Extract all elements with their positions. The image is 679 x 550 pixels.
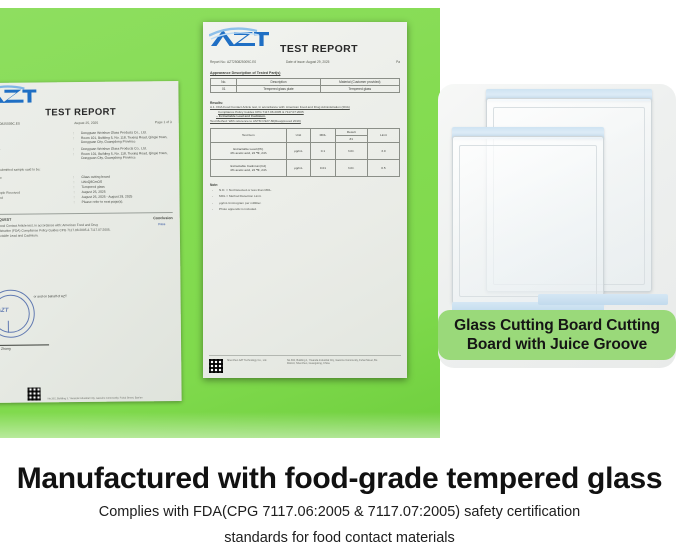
col-mdl: MDL bbox=[311, 128, 336, 142]
cell-material: Tempered glass bbox=[320, 86, 399, 93]
col-unit: Unit bbox=[286, 128, 311, 142]
document-footer-top: Shenzhen AZT Technology Co., Ltd. No.302… bbox=[209, 355, 401, 373]
cell-result: N.D. bbox=[335, 159, 367, 176]
table-row: 01 Tempered glass plate Tempered glass bbox=[211, 86, 400, 93]
field-value: Room 101, Building 5, No. 118, Tiexing R… bbox=[81, 135, 172, 144]
report-date-left: August 25, 2025 bbox=[52, 121, 121, 126]
sample-label: e bbox=[0, 200, 71, 205]
col-material: Material (Customer provided) bbox=[320, 79, 399, 86]
cell-test-condition: 4% acetic acid, 22 ℃, 24h bbox=[212, 151, 285, 155]
test-request-body-left: FDA Food Contact Article test, in accord… bbox=[0, 222, 173, 238]
sample-intro-left: n the submitted sample said to be: bbox=[0, 166, 172, 172]
section-parts-heading: Appearance Description of Tested Part(s) bbox=[210, 71, 400, 75]
test-request-header-left: T REQUEST Conclusion bbox=[0, 212, 173, 222]
conclusion-label: Conclusion bbox=[153, 216, 173, 220]
results-reference: A.1. FDA Food Contact Article test, in a… bbox=[210, 105, 400, 124]
report-meta-left: AZT250825009C.E0 August 25, 2025 Page 1 … bbox=[0, 120, 172, 126]
test-report-document-top[interactable]: TEST REPORT Report No.: AZT250825009C.E0… bbox=[203, 22, 407, 378]
cell-mdl: 0.01 bbox=[311, 159, 336, 176]
table-row: Extractable Cadmium(Cd) 4% acetic acid, … bbox=[211, 159, 400, 176]
caption-line-2: Board with Juice Groove bbox=[454, 335, 660, 354]
subtitle-line-1: Complies with FDA(CPG 7117.06:2005 & 711… bbox=[0, 504, 679, 520]
cell-unit: μg/mL bbox=[286, 142, 311, 159]
azt-logo-left bbox=[0, 84, 37, 107]
footer-company-top: Shenzhen AZT Technology Co., Ltd. bbox=[227, 359, 283, 362]
cell-mdl: 0.1 bbox=[311, 142, 336, 159]
field-value: Room 101, Building 5, No. 118, Tiexing R… bbox=[81, 151, 172, 160]
signature-caption: or and on behalf of AZT bbox=[34, 294, 67, 298]
cell-limit: 0.5 bbox=[367, 159, 399, 176]
report-page-top: Pa bbox=[366, 60, 400, 64]
table-header-row: No. Description Material (Customer provi… bbox=[211, 79, 400, 86]
report-page-left: Page 1 of 3 bbox=[121, 120, 172, 125]
col-no: No. bbox=[211, 79, 237, 86]
note-text: μg/mL=microgram per milliliter. bbox=[219, 201, 261, 205]
report-date-top: August 29, 2025 bbox=[306, 60, 329, 64]
cell-no: 01 bbox=[211, 86, 237, 93]
test-request-label: T REQUEST bbox=[0, 216, 153, 222]
headline-text: Manufactured with food-grade tempered gl… bbox=[0, 462, 679, 496]
col-test-item: Test Item bbox=[211, 128, 287, 142]
juice-groove-edge-lower-right bbox=[538, 294, 668, 305]
report-fields-left: ant:Dongguan Weishun Glass Products Co.,… bbox=[0, 130, 172, 161]
report-no-top: AZT250825009C.E0 bbox=[227, 60, 256, 64]
table-header-row: Test Item Unit MDL Result Limit bbox=[211, 128, 400, 135]
field-label: ss bbox=[0, 152, 70, 161]
cell-description: Tempered glass plate bbox=[237, 86, 320, 93]
azt-logo-top bbox=[209, 27, 269, 51]
footer-address-line: District, Shenzhen, Guangdong, China bbox=[287, 362, 401, 365]
note-text: Photo appendix is included. bbox=[219, 207, 257, 211]
col-limit: Limit bbox=[367, 128, 399, 142]
product-caption-bar: Glass Cutting Board Cutting Board with J… bbox=[438, 310, 676, 360]
glass-cutting-board-front bbox=[452, 136, 604, 304]
report-meta-top: Report No.: AZT250825009C.E0 Date of iss… bbox=[210, 60, 400, 64]
note-text: MDL = Method Detection Limit. bbox=[219, 194, 261, 198]
caption-line-1: Glass Cutting Board Cutting bbox=[454, 316, 660, 335]
test-report-document-left[interactable]: TEST REPORT AZT250825009C.E0 August 25, … bbox=[0, 81, 182, 403]
footer-address-left: No.302, Building 1, Yiwanda Industrial C… bbox=[48, 396, 178, 401]
note-text: N.D. = Not Detected or less than MDL. bbox=[219, 188, 272, 192]
field-label: acturer bbox=[0, 147, 70, 152]
cell-limit: 3.0 bbox=[367, 142, 399, 159]
col-result: Result bbox=[335, 128, 367, 135]
report-title-left: TEST REPORT bbox=[0, 106, 172, 119]
report-no-left: AZT250825009C.E0 bbox=[0, 121, 52, 126]
qr-code-top bbox=[209, 359, 223, 373]
cell-unit: μg/mL bbox=[286, 159, 311, 176]
notes-list: -N.D. = Not Detected or less than MDL. -… bbox=[210, 187, 400, 213]
note-item: -Photo appendix is included. bbox=[220, 206, 400, 212]
results-table: Test Item Unit MDL Result Limit #1 Extra… bbox=[210, 128, 400, 177]
footer-address-top: No.302, Building 1, Yiwanda Industrial C… bbox=[287, 359, 401, 366]
subtitle-line-2: standards for food contact materials bbox=[0, 530, 679, 546]
cell-result: N.D. bbox=[335, 142, 367, 159]
report-no-label-top: Report No.: bbox=[210, 60, 226, 64]
field-label: ant bbox=[0, 131, 70, 136]
col-description: Description bbox=[237, 79, 320, 86]
product-infographic: TEST REPORT AZT250825009C.E0 August 25, … bbox=[0, 0, 679, 550]
sample-fields-left: e Name:Glass cutting board ant:LWxQ8CmOS… bbox=[0, 174, 173, 205]
conclusion-value: Pass bbox=[151, 222, 173, 237]
results-ref-line: Test Method: With reference to ASTM C927… bbox=[210, 119, 400, 124]
report-date-label-top: Date of issue: bbox=[286, 60, 306, 64]
signature-name: Jack Zhang bbox=[0, 347, 11, 351]
photo-area: TEST REPORT AZT250825009C.E0 August 25, … bbox=[0, 0, 679, 447]
request-line: - Extractable Lead and Cadmium. bbox=[0, 232, 151, 238]
azt-official-stamp: AZT bbox=[0, 290, 35, 339]
juice-groove-inner-line bbox=[459, 145, 597, 297]
result-subheader: #1 bbox=[335, 135, 367, 142]
tested-parts-table: No. Description Material (Customer provi… bbox=[210, 78, 400, 93]
signature-rule bbox=[0, 344, 49, 346]
table-row: Extractable Lead (Pb) 4% acetic acid, 22… bbox=[211, 142, 400, 159]
cell-test-condition: 4% acetic acid, 22 ℃, 24h bbox=[212, 168, 285, 172]
sample-value: Please refer to next page(s). bbox=[82, 199, 173, 204]
qr-code-left bbox=[28, 387, 41, 400]
field-label: ss bbox=[0, 136, 70, 145]
